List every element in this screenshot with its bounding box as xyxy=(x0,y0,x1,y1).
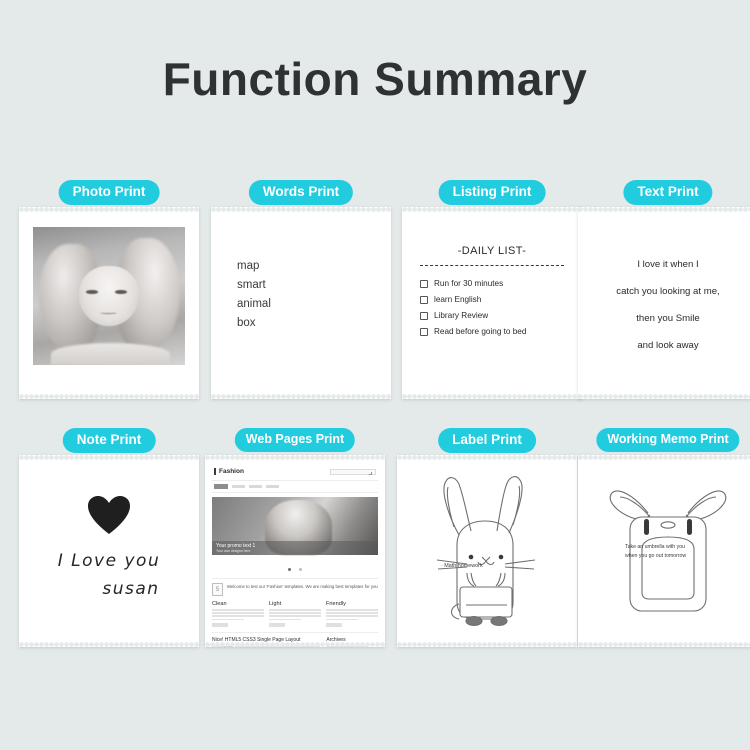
feature-title: Friendly xyxy=(326,601,378,607)
html5-icon xyxy=(212,583,223,596)
word-item: animal xyxy=(237,295,271,314)
perforation-bottom xyxy=(19,394,199,399)
checkbox-icon[interactable] xyxy=(420,328,428,336)
card-words-print[interactable]: Words Print map smart animal box xyxy=(211,180,391,420)
welcome-text: Welcome to test our 'Fashion' templates.… xyxy=(227,583,378,590)
poem-line: catch you looking at me, xyxy=(586,278,750,305)
hero-image: Your promo text 1 Your own designs here xyxy=(212,497,378,555)
photo-image xyxy=(33,227,185,365)
paper-working-memo-print: Take an umbrella with you when you go ou… xyxy=(578,455,750,647)
paper-label-print: · Math homework xyxy=(397,455,577,647)
list-item[interactable]: Read before going to bed xyxy=(420,327,572,336)
paper-note-print: I Love you susan xyxy=(19,455,199,647)
feature-column-light: Light xyxy=(269,601,321,627)
welcome-block: Welcome to test our 'Fashion' templates.… xyxy=(212,578,378,596)
badge-working-memo-print[interactable]: Working Memo Print xyxy=(596,428,739,452)
card-working-memo-print[interactable]: Working Memo Print xyxy=(578,428,750,668)
nav-item-home[interactable] xyxy=(214,484,228,489)
badge-words-print[interactable]: Words Print xyxy=(249,180,353,205)
word-list: map smart animal box xyxy=(237,257,271,333)
poem-text: I love it when I catch you looking at me… xyxy=(586,251,750,359)
list-item[interactable]: Run for 30 minutes xyxy=(420,279,572,288)
web-header: Fashion xyxy=(212,461,378,480)
perforation-top xyxy=(19,455,199,460)
dashed-divider xyxy=(420,265,564,266)
checkbox-icon[interactable] xyxy=(420,312,428,320)
list-item-label: Library Review xyxy=(434,311,488,320)
feature-title: Light xyxy=(269,601,321,607)
feature-column-friendly: Friendly xyxy=(326,601,378,627)
poem-line: and look away xyxy=(586,332,750,359)
read-more-button[interactable] xyxy=(326,623,342,627)
memo-text: Take an umbrella with you when you go ou… xyxy=(625,543,687,560)
perforation-bottom xyxy=(578,394,750,399)
perforation-bottom xyxy=(19,642,199,647)
read-more-button[interactable] xyxy=(269,623,285,627)
perforation-top xyxy=(211,207,391,212)
note-line-1: I Love you xyxy=(19,551,199,571)
list-item-label: Run for 30 minutes xyxy=(434,279,503,288)
badge-text-print[interactable]: Text Print xyxy=(623,180,712,205)
daily-list-title: -DAILY LIST- xyxy=(402,245,582,257)
badge-label-print[interactable]: Label Print xyxy=(438,428,536,453)
feature-title: Clean xyxy=(212,601,264,607)
word-item: map xyxy=(237,257,271,276)
checklist: Run for 30 minutes learn English Library… xyxy=(420,279,572,343)
card-row-1: Photo Print Words Print map xyxy=(0,180,750,420)
card-photo-print[interactable]: Photo Print xyxy=(19,180,199,420)
card-listing-print[interactable]: Listing Print -DAILY LIST- Run for 30 mi… xyxy=(402,180,582,420)
perforation-bottom xyxy=(578,642,750,647)
nav-item-features[interactable] xyxy=(232,485,245,488)
web-navbar[interactable] xyxy=(212,480,378,493)
paper-photo-print xyxy=(19,207,199,399)
perforation-bottom xyxy=(402,394,582,399)
search-input[interactable] xyxy=(330,469,376,475)
card-text-print[interactable]: Text Print I love it when I catch you lo… xyxy=(578,180,750,420)
word-item: smart xyxy=(237,276,271,295)
perforation-top xyxy=(578,207,750,212)
heart-icon xyxy=(87,495,131,535)
list-item-label: learn English xyxy=(434,295,481,304)
nav-item-about[interactable] xyxy=(249,485,262,488)
site-logo: Fashion xyxy=(214,468,244,475)
card-note-print[interactable]: Note Print I Love you susan xyxy=(19,428,199,668)
note-line-2: susan xyxy=(19,579,199,599)
checkbox-icon[interactable] xyxy=(420,296,428,304)
perforation-top xyxy=(205,455,385,460)
badge-photo-print[interactable]: Photo Print xyxy=(59,180,160,205)
perforation-top xyxy=(578,455,750,460)
badge-listing-print[interactable]: Listing Print xyxy=(439,180,546,205)
list-item[interactable]: Library Review xyxy=(420,311,572,320)
label-note-text: · Math homework xyxy=(441,563,523,569)
feature-columns: Clean Light Friendly xyxy=(212,601,378,627)
paper-words-print: map smart animal box xyxy=(211,207,391,399)
web-page-mockup: Fashion Your promo text 1 Your own xyxy=(205,461,385,641)
badge-note-print[interactable]: Note Print xyxy=(63,428,156,453)
hero-caption: Your promo text 1 Your own designs here xyxy=(212,541,378,555)
carousel-dots[interactable] xyxy=(212,555,378,578)
poem-line: I love it when I xyxy=(586,251,750,278)
perforation-bottom xyxy=(211,394,391,399)
badge-web-pages-print[interactable]: Web Pages Print xyxy=(235,428,355,452)
read-more-button[interactable] xyxy=(212,623,228,627)
perforation-top xyxy=(402,207,582,212)
checkbox-icon[interactable] xyxy=(420,280,428,288)
perforation-bottom xyxy=(397,642,577,647)
feature-column-clean: Clean xyxy=(212,601,264,627)
paper-text-print: I love it when I catch you looking at me… xyxy=(578,207,750,399)
perforation-top xyxy=(397,455,577,460)
perforation-bottom xyxy=(205,642,385,647)
paper-listing-print: -DAILY LIST- Run for 30 minutes learn En… xyxy=(402,207,582,399)
word-item: box xyxy=(237,314,271,333)
nav-item-get-in-touch[interactable] xyxy=(266,485,279,488)
hero-caption-sub: Your own designs here xyxy=(216,549,374,553)
rabbit-line-art-icon xyxy=(397,461,577,641)
carousel-dot[interactable] xyxy=(288,568,291,571)
list-item[interactable]: learn English xyxy=(420,295,572,304)
card-row-2: Note Print I Love you susan Web Pages Pr… xyxy=(0,428,750,668)
page-title: Function Summary xyxy=(0,52,750,106)
list-item-label: Read before going to bed xyxy=(434,327,526,336)
poem-line: then you Smile xyxy=(586,305,750,332)
card-label-print[interactable]: Label Print xyxy=(397,428,577,668)
carousel-dot[interactable] xyxy=(299,568,302,571)
card-web-pages-print[interactable]: Web Pages Print Fashion xyxy=(205,428,385,668)
paper-web-pages-print: Fashion Your promo text 1 Your own xyxy=(205,455,385,647)
perforation-top xyxy=(19,207,199,212)
